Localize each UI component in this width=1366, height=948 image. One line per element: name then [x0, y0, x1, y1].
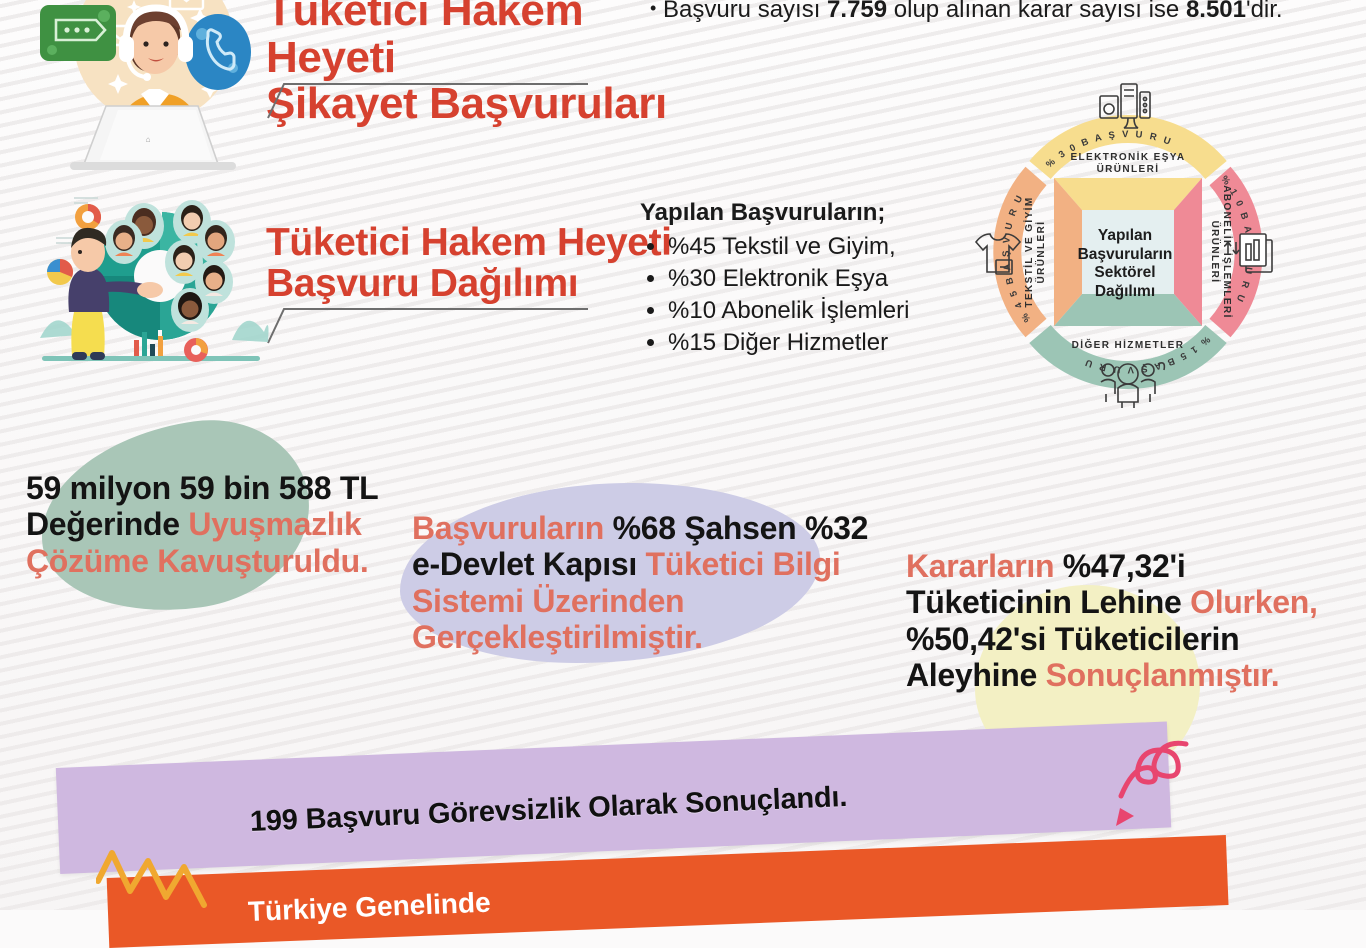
sector-label-other-services: DİĞER HİZMETLER [1072, 338, 1185, 351]
list-item: %30 Elektronik Eşya [668, 263, 950, 295]
stat-2-part-red-1: Başvuruların [412, 510, 613, 546]
heading-1-line-1: Tüketici Hakem Heyeti [266, 0, 686, 81]
bullet-dot-icon: • [650, 0, 656, 18]
sector-label-electronics-line1: ELEKTRONİK EŞYA [1070, 150, 1185, 163]
heading-2-underline [266, 305, 596, 345]
stat-3-part-red-2: Olurken, [1190, 584, 1317, 620]
bullet-text-suffix: 'dir. [1246, 0, 1283, 23]
list-item: %45 Tekstil ve Giyim, [668, 231, 950, 263]
stat-3-part-red-1: Kararların [906, 548, 1063, 584]
ring-center-line-2: Başvuruların [1062, 246, 1188, 265]
bullet-value-applications: 7.759 [827, 0, 887, 23]
ring-center-line-3: Sektörel [1062, 264, 1188, 283]
sector-label-subscription-line2: ÜRÜNLERİ [1209, 221, 1222, 284]
ring-chart-center-title: Yapılan Başvuruların Sektörel Dağılımı [1062, 227, 1188, 301]
bullet-application-count: • Başvuru sayısı 7.759 olup alınan karar… [650, 0, 1283, 24]
stat-decision-outcome: Kararların %47,32'i Tüketicinin Lehine O… [906, 548, 1336, 694]
pink-curly-arrow-icon [1098, 738, 1208, 838]
heading-2-line-1: Tüketici Hakem Heyeti [266, 222, 686, 263]
page-title-distribution: Tüketici Hakem Heyeti Başvuru Dağılımı [266, 222, 686, 305]
sector-label-electronics-line2: ÜRÜNLERİ [1097, 162, 1160, 175]
sector-label-textile-line1: TEKSTİL VE GİYİM [1022, 196, 1035, 307]
ring-center-line-4: Dağılımı [1062, 283, 1188, 302]
customer-support-agent-illustration: ⌂ [22, 0, 272, 179]
distribution-list: %45 Tekstil ve Giyim, %30 Elektronik Eşy… [640, 231, 950, 359]
bullet-text-prefix: Başvuru sayısı [663, 0, 827, 23]
stat-application-channel: Başvuruların %68 Şahsen %32 e-Devlet Kap… [412, 510, 872, 656]
svg-text:⌂: ⌂ [146, 135, 151, 144]
distribution-list-title: Yapılan Başvuruların; [640, 199, 950, 227]
presenter-with-donut-chart-illustration [36, 180, 271, 376]
list-item: %10 Abonelik İşlemleri [668, 295, 950, 327]
heading-2-line-2: Başvuru Dağılımı [266, 263, 686, 304]
orange-zigzag-line-icon [96, 845, 266, 915]
sector-label-textile-line2: ÜRÜNLERİ [1034, 221, 1047, 284]
ring-center-line-1: Yapılan [1062, 227, 1188, 246]
list-item: %15 Diğer Hizmetler [668, 327, 950, 359]
stat-dispute-value: 59 milyon 59 bin 588 TL Değerinde Uyuşma… [26, 470, 426, 579]
heading-1-underline [266, 80, 596, 120]
bullet-value-decisions: 8.501 [1186, 0, 1246, 23]
distribution-list-block: Yapılan Başvuruların; %45 Tekstil ve Giy… [640, 199, 950, 359]
stat-3-part-red-3: Sonuçlanmıştır. [1046, 657, 1280, 693]
bullet-text-middle: olup alınan karar sayısı ise [887, 0, 1186, 23]
